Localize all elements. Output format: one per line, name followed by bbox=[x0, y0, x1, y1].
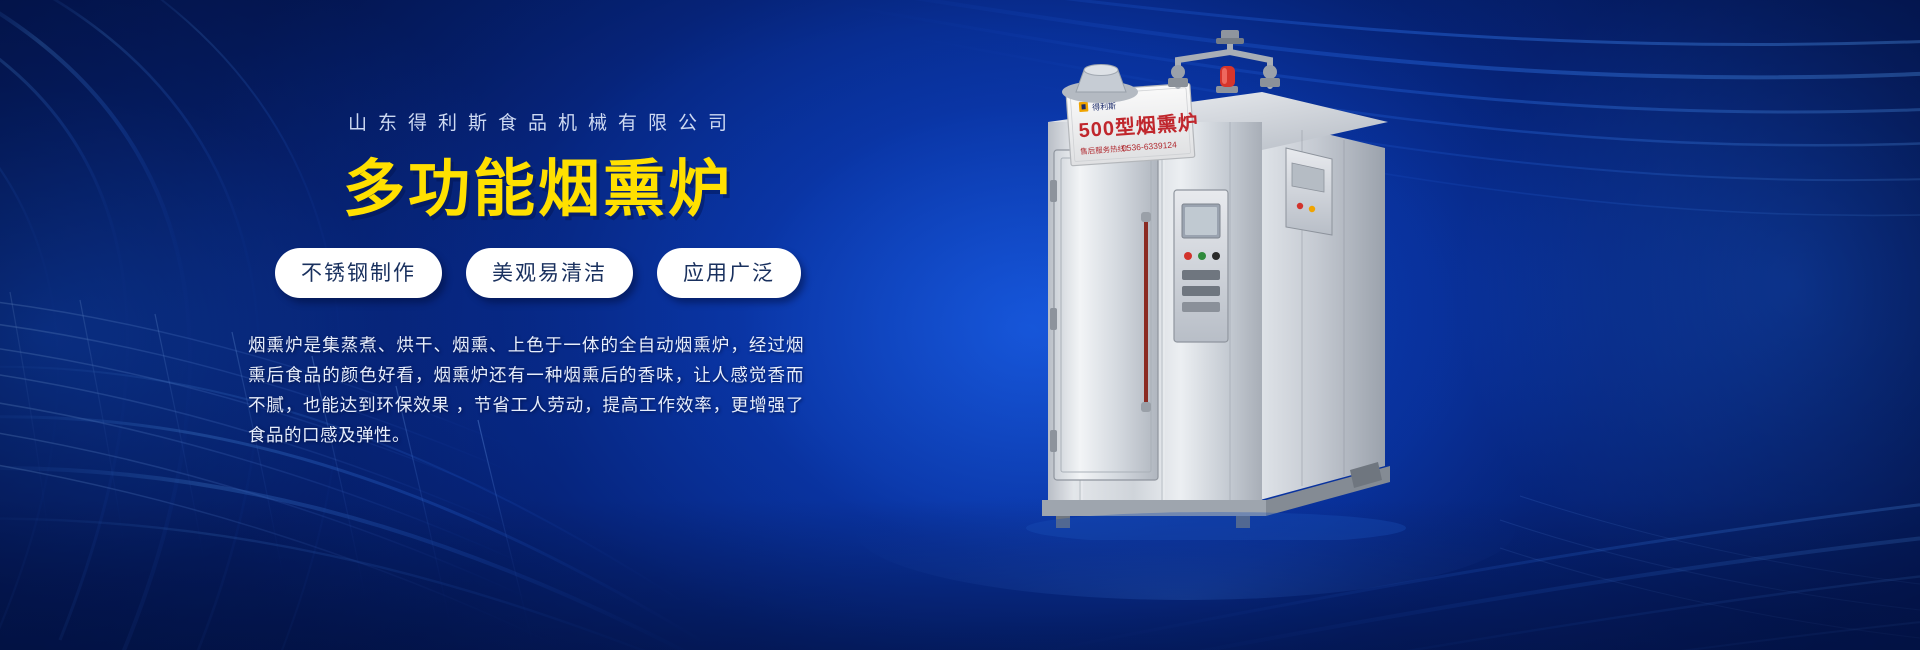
promotional-banner: 得利斯 500型烟熏炉 售后服务热线： 0536-6339124 bbox=[0, 0, 1920, 650]
feature-tag-stainless-steel: 不锈钢制作 bbox=[275, 248, 442, 298]
product-description: 烟熏炉是集蒸煮、烘干、烟熏、上色于一体的全自动烟熏炉，经过烟熏后食品的颜色好看，… bbox=[248, 330, 804, 450]
feature-tag-easy-clean: 美观易清洁 bbox=[466, 248, 633, 298]
banner-text-block: 山东得利斯食品机械有限公司 多功能烟熏炉 不锈钢制作 美观易清洁 应用广泛 烟熏… bbox=[248, 108, 828, 450]
feature-tag-row: 不锈钢制作 美观易清洁 应用广泛 bbox=[248, 248, 828, 298]
feature-tag-wide-application: 应用广泛 bbox=[657, 248, 801, 298]
company-name: 山东得利斯食品机械有限公司 bbox=[248, 108, 828, 135]
smokehouse-oven-photo: 得利斯 500型烟熏炉 售后服务热线： 0536-6339124 bbox=[930, 30, 1450, 540]
page-title: 多功能烟熏炉 bbox=[248, 157, 828, 222]
